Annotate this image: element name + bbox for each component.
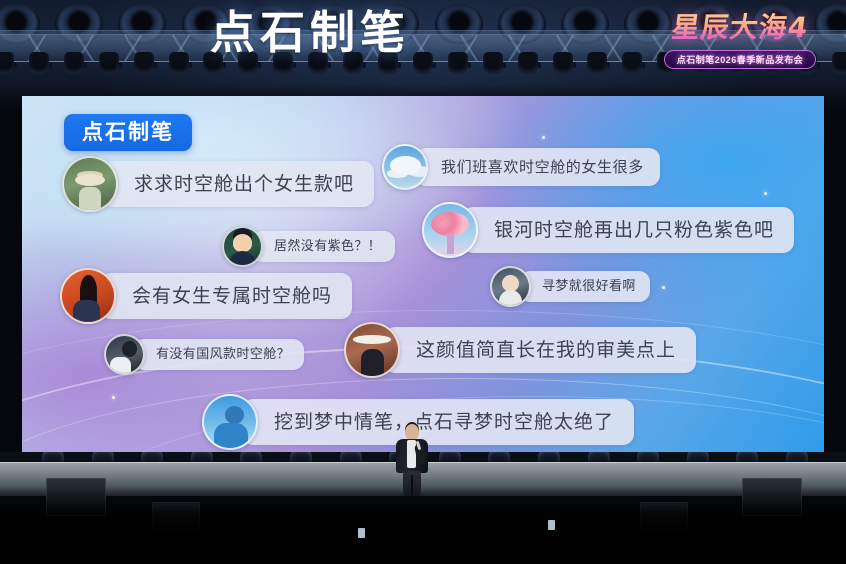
comment-avatar [382,144,428,190]
audience-head [694,534,722,564]
audience-head [506,540,528,564]
audience-head [198,540,220,564]
audience-head [428,538,452,564]
audience-head [12,534,38,564]
comment-avatar [422,202,478,258]
audience-head [386,534,414,564]
presenter-shirt [407,440,416,468]
comment-text: 居然没有紫色？！ [251,231,395,262]
audience-head [618,530,648,564]
comment-bubble: 居然没有紫色？！ [222,226,395,267]
audience-head [232,534,260,564]
event-logo-title: 星辰大海4 [640,8,841,48]
brand-badge: 点石制笔 [64,114,192,151]
comment-bubble: 这颜值简直长在我的审美点上 [344,322,696,378]
comment-text: 这颜值简直长在我的审美点上 [384,327,696,373]
comment-avatar [344,322,400,378]
comment-text: 会有女生专属时空舱吗 [100,273,352,319]
presenter-head [405,424,419,440]
audience-silhouette [0,486,846,564]
overlay-headline: 点石制笔 [0,2,620,64]
comment-avatar [60,268,116,324]
comment-bubble: 银河时空舱再出几只粉色紫色吧 [422,202,794,258]
comment-text: 我们班喜欢时空舱的女生很多 [415,148,660,186]
audience-head [272,538,296,564]
comment-bubble: 我们班喜欢时空舱的女生很多 [382,144,660,190]
comment-text: 求求时空舱出个女生款吧 [102,161,374,207]
comment-text: 有没有国风款时空舱？ [133,339,304,370]
comment-text: 银河时空舱再出几只粉色紫色吧 [462,207,794,253]
screen-sparkle [764,192,767,195]
comment-avatar [490,266,531,307]
comment-bubble: 有没有国风款时空舱？ [104,334,304,375]
screen-sparkle [112,396,115,399]
event-logo-subtitle: 点石制笔2026春季新品发布会 [664,50,817,69]
comment-avatar [202,394,258,450]
event-logo: 星辰大海4 点石制笔2026春季新品发布会 [642,8,838,80]
audience-phone-screen [548,520,555,530]
audience-head [540,533,568,564]
audience-head [660,540,682,564]
audience-head [464,531,494,564]
comment-bubble: 求求时空舱出个女生款吧 [62,156,374,212]
audience-head [308,530,338,564]
comment-avatar [222,226,263,267]
audience-head [156,532,186,564]
comment-avatar [104,334,145,375]
audience-head [812,536,838,564]
screen-sparkle [542,136,545,139]
comment-text: 寻梦就很好看啊 [519,271,650,302]
presenter-on-stage [392,424,432,496]
audience-head [120,538,144,564]
conference-stage-photo: 点石制笔 星辰大海4 点石制笔2026春季新品发布会 点石制笔 求求时空舱出个女… [0,0,846,564]
audience-head [48,540,70,564]
led-screen: 点石制笔 求求时空舱出个女生款吧 我们班喜欢时空舱的女生很多 银河时空舱再出几只… [22,96,824,458]
comment-bubble: 会有女生专属时空舱吗 [60,268,352,324]
audience-head [582,538,606,564]
audience-head [736,537,760,564]
presenter-legs [403,471,421,496]
audience-phone-screen [358,528,365,538]
comment-bubble: 寻梦就很好看啊 [490,266,650,307]
audience-head [352,540,374,564]
comment-text: 挖到梦中情笔，点石寻梦时空舱太绝了 [242,399,634,445]
audience-head [80,530,108,564]
comment-avatar [62,156,118,212]
audience-head [772,531,802,564]
screen-sparkle [662,286,665,289]
